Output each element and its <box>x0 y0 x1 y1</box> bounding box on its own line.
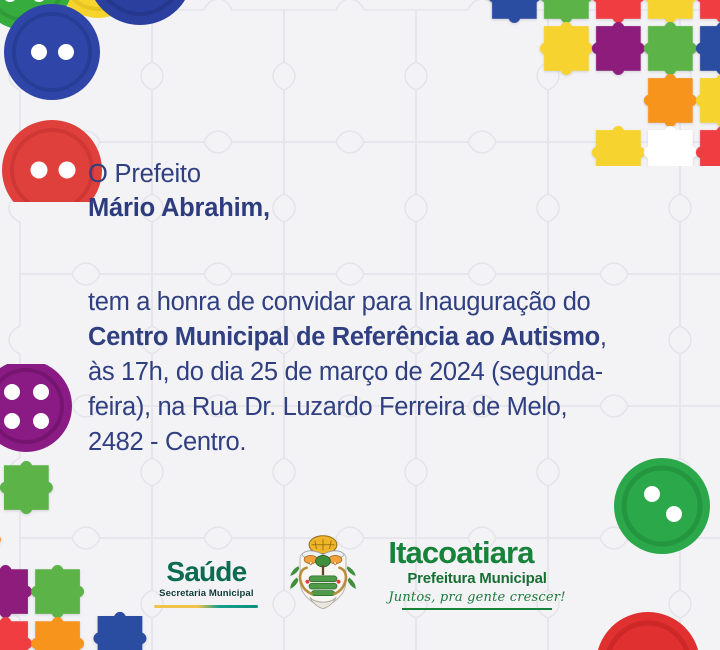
itacoatiara-wordmark: Itacoatiara <box>388 537 565 568</box>
event-name-highlight: Centro Municipal de Referência ao Autism… <box>88 323 600 351</box>
decoration-puzzle-top-right <box>478 0 720 166</box>
itacoatiara-underline <box>402 608 552 610</box>
button-blue-two-hole <box>4 4 100 100</box>
button-red-br <box>596 612 700 650</box>
saude-wordmark: Saúde <box>154 558 258 586</box>
button-purple <box>0 364 72 452</box>
invitation-text-block: O Prefeito Mário Abrahim, tem a honra de… <box>88 158 648 460</box>
mayor-name: Mário Abrahim, <box>88 192 648 226</box>
body-part-1: tem a honra de convidar para Inauguração… <box>88 288 590 316</box>
saude-gradient-bar <box>154 605 258 609</box>
salutation: O Prefeito Mário Abrahim, <box>88 158 648 225</box>
button-green <box>0 0 73 30</box>
logo-itacoatiara: Itacoatiara Prefeitura Municipal Juntos,… <box>388 537 565 612</box>
coat-of-arms-icon <box>282 530 364 612</box>
button-blue-large <box>87 0 193 25</box>
logo-saude: Saúde Secretaria Municipal <box>154 558 258 613</box>
button-red <box>2 120 102 202</box>
button-yellow <box>54 0 142 18</box>
footer-logos: Saúde Secretaria Municipal <box>0 530 720 612</box>
invitation-body: tem a honra de convidar para Inauguração… <box>88 285 608 460</box>
salutation-line1: O Prefeito <box>88 158 648 192</box>
itacoatiara-subtitle: Prefeitura Municipal <box>388 570 565 587</box>
itacoatiara-slogan: Juntos, pra gente crescer! <box>388 590 565 605</box>
saude-subtitle: Secretaria Municipal <box>154 588 258 599</box>
poster-canvas: O Prefeito Mário Abrahim, tem a honra de… <box>0 0 720 650</box>
